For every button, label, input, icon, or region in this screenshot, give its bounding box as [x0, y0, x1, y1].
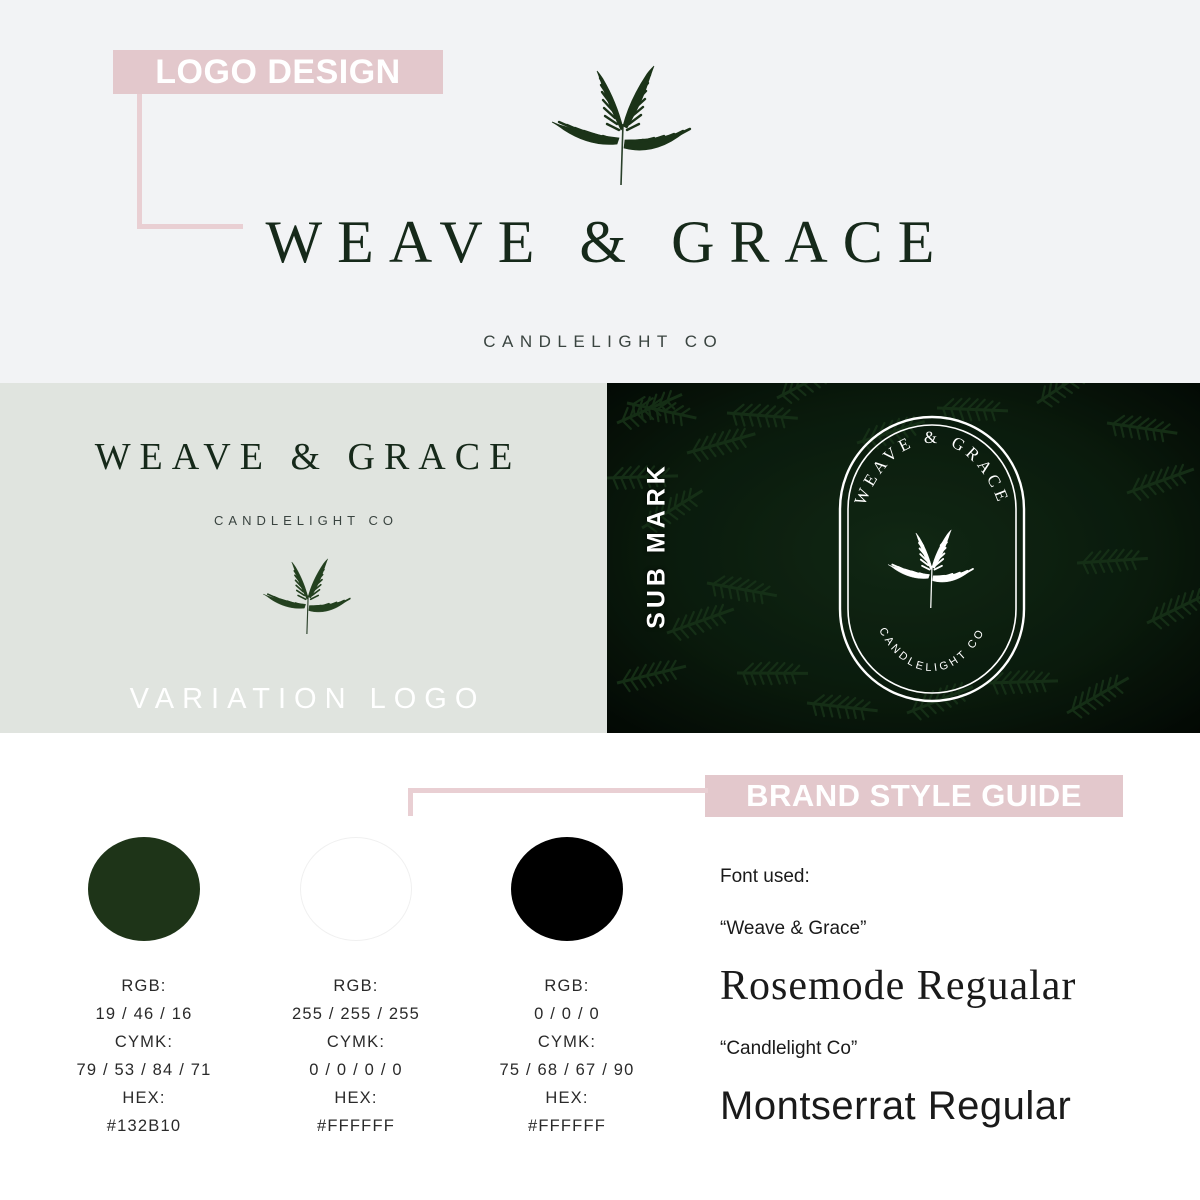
color-spec-black: RGB: 0 / 0 / 0 CYMK: 75 / 68 / 67 / 90 H… — [452, 972, 682, 1140]
color-swatch-dark-green — [88, 837, 200, 941]
color-spec-white: RGB: 255 / 255 / 255 CYMK: 0 / 0 / 0 / 0… — [241, 972, 471, 1140]
cymk-value: 0 / 0 / 0 / 0 — [241, 1056, 471, 1084]
rgb-value: 255 / 255 / 255 — [241, 1000, 471, 1028]
brand-style-guide-banner: BRAND STYLE GUIDE — [705, 775, 1123, 817]
variation-wordmark: WEAVE & GRACE — [0, 435, 607, 479]
sub-mark-panel: SUB MARK WEAVE & GRACE CANDLELIGHT CO — [607, 383, 1200, 733]
hex-label: HEX: — [241, 1084, 471, 1112]
fonts-block: Font used: “Weave & Grace” Rosemode Regu… — [720, 866, 1160, 1129]
color-swatch-white — [300, 837, 412, 941]
bracket-vertical-bottom — [408, 788, 413, 816]
variation-tagline: CANDLELIGHT CO — [0, 513, 607, 528]
cymk-label: CYMK: — [452, 1028, 682, 1056]
fern-leaf-icon — [523, 52, 713, 212]
secondary-font-usage: “Candlelight Co” — [720, 1038, 1160, 1060]
logo-design-banner: LOGO DESIGN — [113, 50, 443, 94]
cymk-label: CYMK: — [241, 1028, 471, 1056]
svg-text:WEAVE & GRACE: WEAVE & GRACE — [850, 428, 1013, 508]
logo-variations-section: WEAVE & GRACE CANDLELIGHT CO — [0, 383, 1200, 733]
svg-text:CANDLELIGHT CO: CANDLELIGHT CO — [876, 626, 988, 675]
hex-label: HEX: — [29, 1084, 259, 1112]
hex-value: #FFFFFF — [241, 1112, 471, 1140]
hex-value: #132B10 — [29, 1112, 259, 1140]
primary-font-usage: “Weave & Grace” — [720, 918, 1160, 940]
rgb-value: 19 / 46 / 16 — [29, 1000, 259, 1028]
variation-logo-panel: WEAVE & GRACE CANDLELIGHT CO — [0, 383, 607, 733]
cymk-value: 75 / 68 / 67 / 90 — [452, 1056, 682, 1084]
secondary-font-name: Montserrat Regular — [720, 1084, 1160, 1129]
logo-design-section: LOGO DESIGN — [0, 0, 1200, 383]
color-spec-dark-green: RGB: 19 / 46 / 16 CYMK: 79 / 53 / 84 / 7… — [29, 972, 259, 1140]
cymk-label: CYMK: — [29, 1028, 259, 1056]
sub-mark-badge: WEAVE & GRACE CANDLELIGHT CO — [832, 409, 1032, 709]
page-tagline: CANDLELIGHT CO — [0, 332, 1200, 352]
rgb-value: 0 / 0 / 0 — [452, 1000, 682, 1028]
variation-logo-label: VARIATION LOGO — [0, 683, 607, 716]
rgb-label: RGB: — [452, 972, 682, 1000]
hex-value: #FFFFFF — [452, 1112, 682, 1140]
font-used-heading: Font used: — [720, 866, 1160, 888]
cymk-value: 79 / 53 / 84 / 71 — [29, 1056, 259, 1084]
rgb-label: RGB: — [29, 972, 259, 1000]
primary-font-name: Rosemode Regualar — [720, 962, 1160, 1010]
sub-mark-label: SUB MARK — [643, 436, 672, 656]
fern-leaf-icon — [245, 543, 365, 658]
bracket-horizontal-bottom — [408, 788, 708, 793]
page-title-wordmark: WEAVE & GRACE — [0, 208, 1200, 277]
badge-bottom-text: CANDLELIGHT CO — [876, 626, 988, 675]
badge-top-text: WEAVE & GRACE — [850, 428, 1013, 508]
brand-style-guide-page: LOGO DESIGN — [0, 0, 1200, 1200]
color-swatch-black — [511, 837, 623, 941]
rgb-label: RGB: — [241, 972, 471, 1000]
hex-label: HEX: — [452, 1084, 682, 1112]
